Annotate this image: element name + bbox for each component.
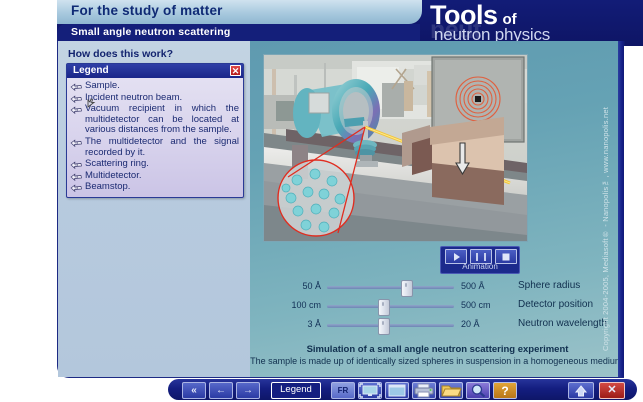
pointing-hand-icon — [70, 171, 83, 182]
caption-title: Simulation of a small angle neutron scat… — [250, 344, 625, 355]
slider-row-neutron-wavelength: 3 Å 20 Å Neutron wavelength — [265, 316, 610, 335]
arrow-up-icon — [574, 385, 588, 397]
parameter-sliders: 50 Å 500 Å Sphere radius 100 cm 500 cm D… — [265, 278, 610, 335]
legend-item-label: Beamstop. — [85, 182, 130, 193]
folder-icon — [440, 383, 462, 398]
brand-logo: neut Toolsof neutron physics — [430, 2, 635, 44]
legend-item-label: Incident neutron beam. — [85, 93, 182, 104]
list-item[interactable]: Scattering ring. — [70, 159, 239, 170]
pointing-hand-icon — [70, 159, 83, 170]
pointing-hand-icon — [70, 81, 83, 92]
play-icon — [454, 253, 460, 261]
legend-list: Sample. Incident neutron beam. Vacuum re… — [67, 78, 243, 197]
slider-max-label: 500 Å — [461, 281, 485, 291]
legend-item-label: Multidetector. — [85, 171, 142, 182]
animation-label: Animation — [441, 262, 519, 271]
open-folder-button[interactable] — [439, 382, 463, 399]
slider-knob-sphere-radius[interactable] — [401, 280, 413, 297]
help-button[interactable]: ? — [493, 382, 517, 399]
legend-popup: Legend ✕ Sample. Incident neutr — [66, 63, 244, 198]
help-icon: ? — [494, 383, 516, 398]
legend-item-label: Scattering ring. — [85, 159, 149, 170]
mouse-cursor — [86, 98, 98, 117]
left-gutter — [0, 46, 57, 402]
copyright-text: Copyright 2004-2005, Mediasoft® - Nanopo… — [601, 51, 615, 351]
first-page-button[interactable]: « — [182, 382, 206, 399]
right-gutter — [624, 46, 643, 379]
pointing-hand-icon — [70, 93, 83, 104]
page-subtitle: Small angle neutron scattering — [71, 26, 230, 38]
legend-item-label: The multidetector and the signal recorde… — [85, 137, 239, 158]
legend-close-icon[interactable]: ✕ — [230, 65, 241, 76]
language-button[interactable]: FR — [331, 382, 355, 399]
content-panel: How does this work? and their size is in… — [57, 41, 624, 378]
header-left-gutter — [0, 0, 57, 46]
next-button[interactable]: → — [236, 382, 260, 399]
search-icon — [467, 383, 489, 398]
pointing-hand-icon — [70, 182, 83, 193]
pointing-hand-icon — [70, 137, 83, 148]
search-button[interactable] — [466, 382, 490, 399]
slider-min-label: 50 Å — [265, 281, 321, 291]
slider-min-label: 3 Å — [265, 319, 321, 329]
legend-titlebar: Legend ✕ — [67, 64, 243, 78]
slider-name-neutron-wavelength: Neutron wavelength — [518, 318, 607, 329]
page-title: For the study of matter — [71, 3, 223, 18]
arrow-left-icon: ← — [216, 386, 226, 396]
sidebar-heading: How does this work? — [68, 48, 173, 60]
caption-text: The sample is made up of identically siz… — [250, 356, 625, 366]
svg-text:?: ? — [501, 384, 508, 398]
window-icon — [386, 383, 408, 398]
list-item[interactable]: Beamstop. — [70, 182, 239, 193]
close-button[interactable]: ✕ — [599, 382, 625, 399]
legend-item-label: Vacuum recipient in which the multidetec… — [85, 104, 239, 136]
slider-knob-neutron-wavelength[interactable] — [378, 318, 390, 335]
legend-item-label: Sample. — [85, 81, 120, 92]
slider-row-detector-position: 100 cm 500 cm Detector position — [265, 297, 610, 316]
list-item[interactable]: Multidetector. — [70, 171, 239, 182]
double-chevron-left-icon: « — [191, 386, 197, 396]
slider-max-label: 500 cm — [461, 300, 491, 310]
stop-icon — [503, 253, 510, 260]
legend-title: Legend — [73, 65, 109, 76]
page-title-pill: For the study of matter — [57, 0, 422, 24]
printer-icon — [413, 383, 435, 398]
simulation-image — [263, 54, 528, 242]
slider-name-detector-position: Detector position — [518, 299, 593, 310]
slider-max-label: 20 Å — [461, 319, 480, 329]
slider-track-detector-position[interactable] — [327, 305, 454, 308]
sidebar-panel: How does this work? and their size is in… — [58, 41, 250, 377]
simulation-panel: Animation 50 Å 500 Å Sphere radius 100 c… — [250, 41, 625, 377]
slider-track-neutron-wavelength[interactable] — [327, 324, 454, 327]
close-icon: ✕ — [607, 385, 616, 396]
up-button[interactable] — [568, 382, 594, 399]
slider-name-sphere-radius: Sphere radius — [518, 280, 580, 291]
arrow-right-icon: → — [243, 386, 253, 396]
pointing-hand-icon — [70, 104, 83, 115]
bottom-left-gutter — [0, 378, 168, 402]
slider-track-sphere-radius[interactable] — [327, 286, 454, 289]
language-label: FR — [338, 387, 349, 395]
subtitle-bar: Small angle neutron scattering — [57, 24, 420, 41]
slider-row-sphere-radius: 50 Å 500 Å Sphere radius — [265, 278, 610, 297]
fullscreen-button[interactable] — [358, 382, 382, 399]
screen-icon — [359, 383, 381, 398]
pause-icon — [476, 253, 486, 261]
bottom-toolbar: « ← → Legend FR ? — [168, 379, 637, 400]
simulation-caption: Simulation of a small angle neutron scat… — [250, 344, 625, 366]
previous-button[interactable]: ← — [209, 382, 233, 399]
animation-controls: Animation — [440, 246, 520, 274]
window-button[interactable] — [385, 382, 409, 399]
list-item[interactable]: Sample. — [70, 81, 239, 92]
print-button[interactable] — [412, 382, 436, 399]
application-window: For the study of matter Small angle neut… — [0, 0, 643, 402]
legend-toggle-button[interactable]: Legend — [271, 382, 321, 399]
slider-knob-detector-position[interactable] — [378, 299, 390, 316]
slider-min-label: 100 cm — [265, 300, 321, 310]
list-item[interactable]: The multidetector and the signal recorde… — [70, 137, 239, 158]
